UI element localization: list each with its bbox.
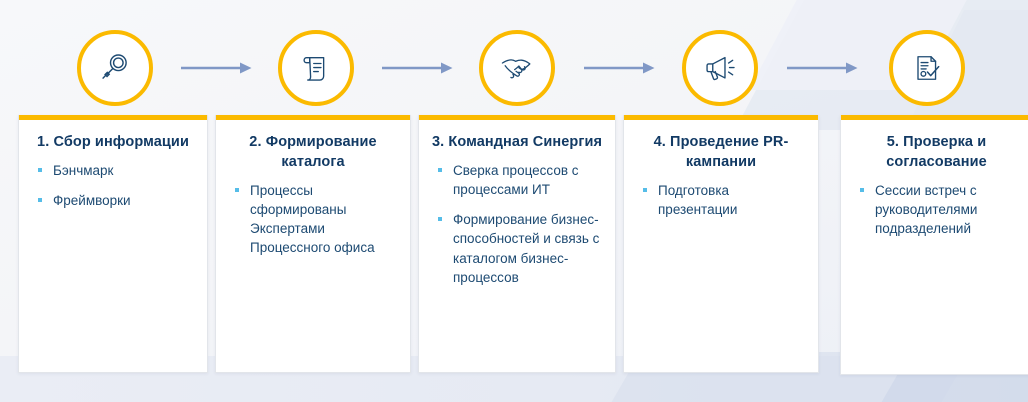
step-icon-row [0,0,1028,118]
list-item: Фреймворки [31,191,195,210]
step-icon-circle-1 [77,30,153,106]
step-icon-circle-3 [479,30,555,106]
step-card-4[interactable]: 4. Проведение PR-кампании Подготовка пре… [623,115,819,373]
arrow-4-to-5 [786,61,859,75]
handshake-icon [497,48,537,88]
list-item: Подготовка презентации [636,181,806,219]
magnifier-icon [96,49,134,87]
list-item: Сверка процессов с процессами ИТ [431,161,603,199]
step-card-3[interactable]: 3. Командная Синергия Сверка процессов с… [418,115,616,373]
arrow-1-to-2 [180,61,253,75]
list-item: Сессии встреч с руководителями подраздел… [853,181,1020,238]
list-item: Процессы сформированы Экспертами Процесс… [228,181,398,258]
process-flow-diagram: 1. Сбор информации Бэнчмарк Фреймворки 2… [0,0,1028,402]
step-card-row: 1. Сбор информации Бэнчмарк Фреймворки 2… [0,115,1028,377]
step-card-2[interactable]: 2. Формирование каталога Процессы сформи… [215,115,411,373]
list-item: Бэнчмарк [31,161,195,180]
step-title-2: 2. Формирование каталога [228,132,398,172]
step-bullets-2: Процессы сформированы Экспертами Процесс… [228,181,398,258]
scroll-document-icon [298,50,334,86]
step-icon-circle-2 [278,30,354,106]
megaphone-icon [701,49,739,87]
step-bullets-5: Сессии встреч с руководителями подраздел… [853,181,1020,238]
step-title-3: 3. Командная Синергия [431,132,603,152]
step-title-4: 4. Проведение PR-кампании [636,132,806,172]
document-check-icon [909,50,945,86]
step-title-1: 1. Сбор информации [31,132,195,152]
step-icon-circle-5 [889,30,965,106]
step-bullets-1: Бэнчмарк Фреймворки [31,161,195,210]
step-card-1[interactable]: 1. Сбор информации Бэнчмарк Фреймворки [18,115,208,373]
step-bullets-3: Сверка процессов с процессами ИТ Формиро… [431,161,603,287]
list-item: Формирование бизнес-способностей и связь… [431,210,603,287]
step-title-5: 5. Проверка и согласование [853,132,1020,172]
arrow-3-to-4 [583,61,656,75]
step-bullets-4: Подготовка презентации [636,181,806,219]
step-card-5[interactable]: 5. Проверка и согласование Сессии встреч… [840,115,1028,375]
step-icon-circle-4 [682,30,758,106]
arrow-2-to-3 [381,61,454,75]
